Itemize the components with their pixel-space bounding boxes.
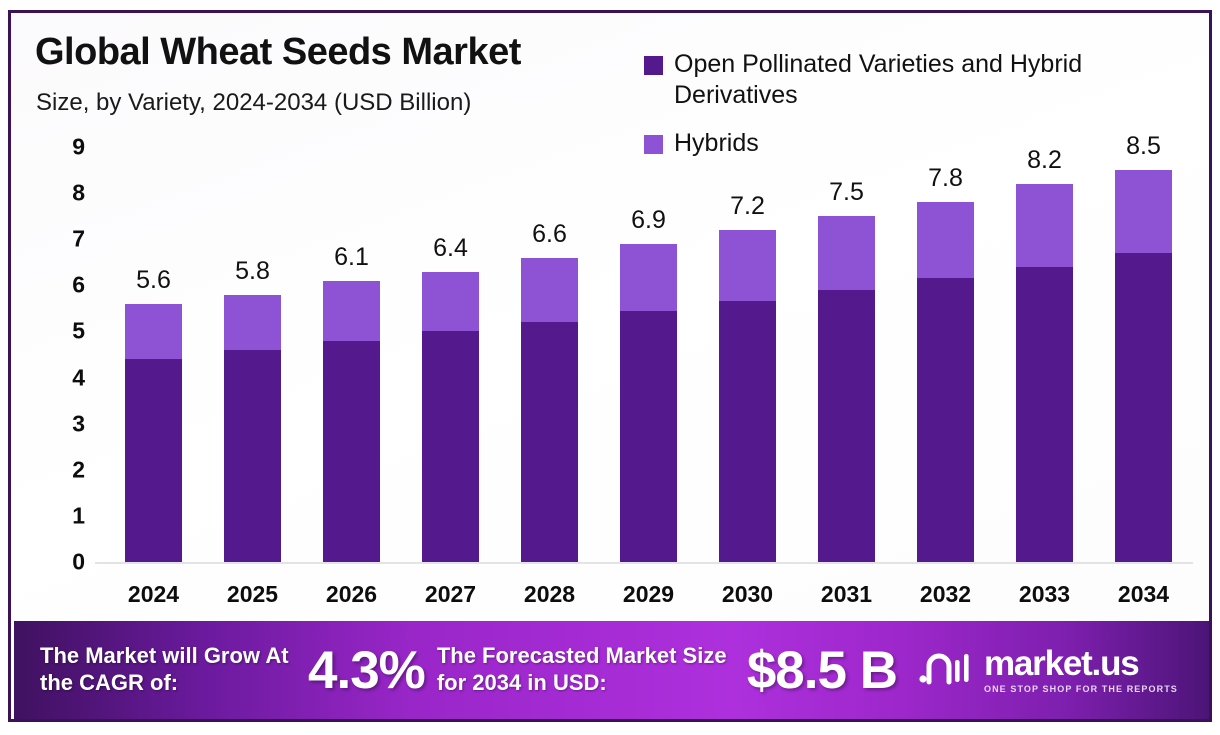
y-axis-tick-label: 3 xyxy=(45,410,85,437)
x-axis-tick-label: 2025 xyxy=(208,581,298,608)
bar-stack xyxy=(224,295,281,562)
bar-value-label: 6.1 xyxy=(307,243,397,272)
bar-segment-hybrids xyxy=(521,258,578,323)
y-axis-tick-label: 6 xyxy=(45,272,85,299)
bar-value-label: 7.5 xyxy=(802,178,892,207)
x-axis-tick-label: 2026 xyxy=(307,581,397,608)
forecast-label: The Forecasted Market Size for 2034 in U… xyxy=(437,643,737,697)
bar-value-label: 8.5 xyxy=(1099,132,1189,161)
x-axis-tick-label: 2033 xyxy=(1000,581,1090,608)
x-axis-tick-label: 2034 xyxy=(1099,581,1189,608)
y-axis-tick-label: 2 xyxy=(45,456,85,483)
bar-value-label: 6.9 xyxy=(604,206,694,235)
y-axis-tick-label: 4 xyxy=(45,364,85,391)
bar-segment-hybrids xyxy=(323,281,380,341)
bar-value-label: 8.2 xyxy=(1000,146,1090,175)
bar-segment-hybrids xyxy=(1115,170,1172,253)
bar-segment-hybrids xyxy=(125,304,182,359)
bar-value-label: 7.2 xyxy=(703,192,793,221)
bar-stack xyxy=(323,281,380,562)
bar-segment-open-pollinated xyxy=(1016,267,1073,562)
cagr-value: 4.3% xyxy=(308,640,425,701)
forecast-value: $8.5 B xyxy=(747,640,897,701)
bar-value-label: 5.8 xyxy=(208,257,298,286)
chart-screenshot: Global Wheat Seeds Market Size, by Varie… xyxy=(0,0,1220,735)
bar-segment-hybrids xyxy=(917,202,974,278)
bar-segment-open-pollinated xyxy=(620,311,677,562)
bar-segment-open-pollinated xyxy=(521,322,578,562)
footer-banner: The Market will Grow At the CAGR of: 4.3… xyxy=(14,621,1212,719)
bar-value-label: 6.4 xyxy=(406,234,496,263)
bar-stack xyxy=(422,272,479,563)
logo-text: market.us ONE STOP SHOP FOR THE REPORTS xyxy=(984,646,1178,694)
bar-value-label: 6.6 xyxy=(505,220,595,249)
chart-frame: Global Wheat Seeds Market Size, by Varie… xyxy=(8,10,1212,722)
x-axis-tick-label: 2030 xyxy=(703,581,793,608)
market-us-logo: market.us ONE STOP SHOP FOR THE REPORTS xyxy=(917,646,1178,694)
x-axis-baseline xyxy=(95,562,1193,564)
y-axis-tick-label: 8 xyxy=(45,180,85,207)
bar-segment-hybrids xyxy=(719,230,776,301)
bar-stack xyxy=(125,304,182,562)
bar-segment-hybrids xyxy=(818,216,875,290)
plot-area: 0123456789 5.65.86.16.46.66.97.27.57.88.… xyxy=(11,13,1212,722)
market-us-logo-icon xyxy=(917,648,975,693)
y-axis-tick-label: 0 xyxy=(45,549,85,576)
bar-stack xyxy=(620,244,677,562)
bar-stack xyxy=(917,202,974,562)
bar-segment-open-pollinated xyxy=(224,350,281,562)
bar-stack xyxy=(719,230,776,562)
logo-tagline: ONE STOP SHOP FOR THE REPORTS xyxy=(984,684,1178,694)
bar-segment-hybrids xyxy=(620,244,677,311)
bar-stack xyxy=(521,258,578,562)
x-axis-tick-label: 2031 xyxy=(802,581,892,608)
bar-stack xyxy=(1016,184,1073,562)
bar-segment-hybrids xyxy=(1016,184,1073,267)
bar-value-label: 5.6 xyxy=(109,266,199,295)
bar-stack xyxy=(818,216,875,562)
bar-segment-open-pollinated xyxy=(917,278,974,562)
x-axis-tick-label: 2032 xyxy=(901,581,991,608)
bar-segment-open-pollinated xyxy=(818,290,875,562)
bar-segment-open-pollinated xyxy=(323,341,380,562)
cagr-label: The Market will Grow At the CAGR of: xyxy=(40,643,298,697)
bar-stack xyxy=(1115,170,1172,562)
y-axis-tick-label: 7 xyxy=(45,226,85,253)
bar-segment-open-pollinated xyxy=(719,301,776,562)
y-axis-tick-label: 5 xyxy=(45,318,85,345)
logo-wordmark: market.us xyxy=(984,646,1178,681)
y-axis-tick-label: 1 xyxy=(45,502,85,529)
bar-segment-open-pollinated xyxy=(422,331,479,562)
bar-segment-open-pollinated xyxy=(125,359,182,562)
x-axis-tick-label: 2028 xyxy=(505,581,595,608)
bar-segment-hybrids xyxy=(422,272,479,332)
x-axis-tick-label: 2024 xyxy=(109,581,199,608)
bar-segment-open-pollinated xyxy=(1115,253,1172,562)
bar-value-label: 7.8 xyxy=(901,164,991,193)
x-axis-tick-label: 2027 xyxy=(406,581,496,608)
y-axis-tick-label: 9 xyxy=(45,134,85,161)
x-axis-tick-label: 2029 xyxy=(604,581,694,608)
bar-segment-hybrids xyxy=(224,295,281,350)
